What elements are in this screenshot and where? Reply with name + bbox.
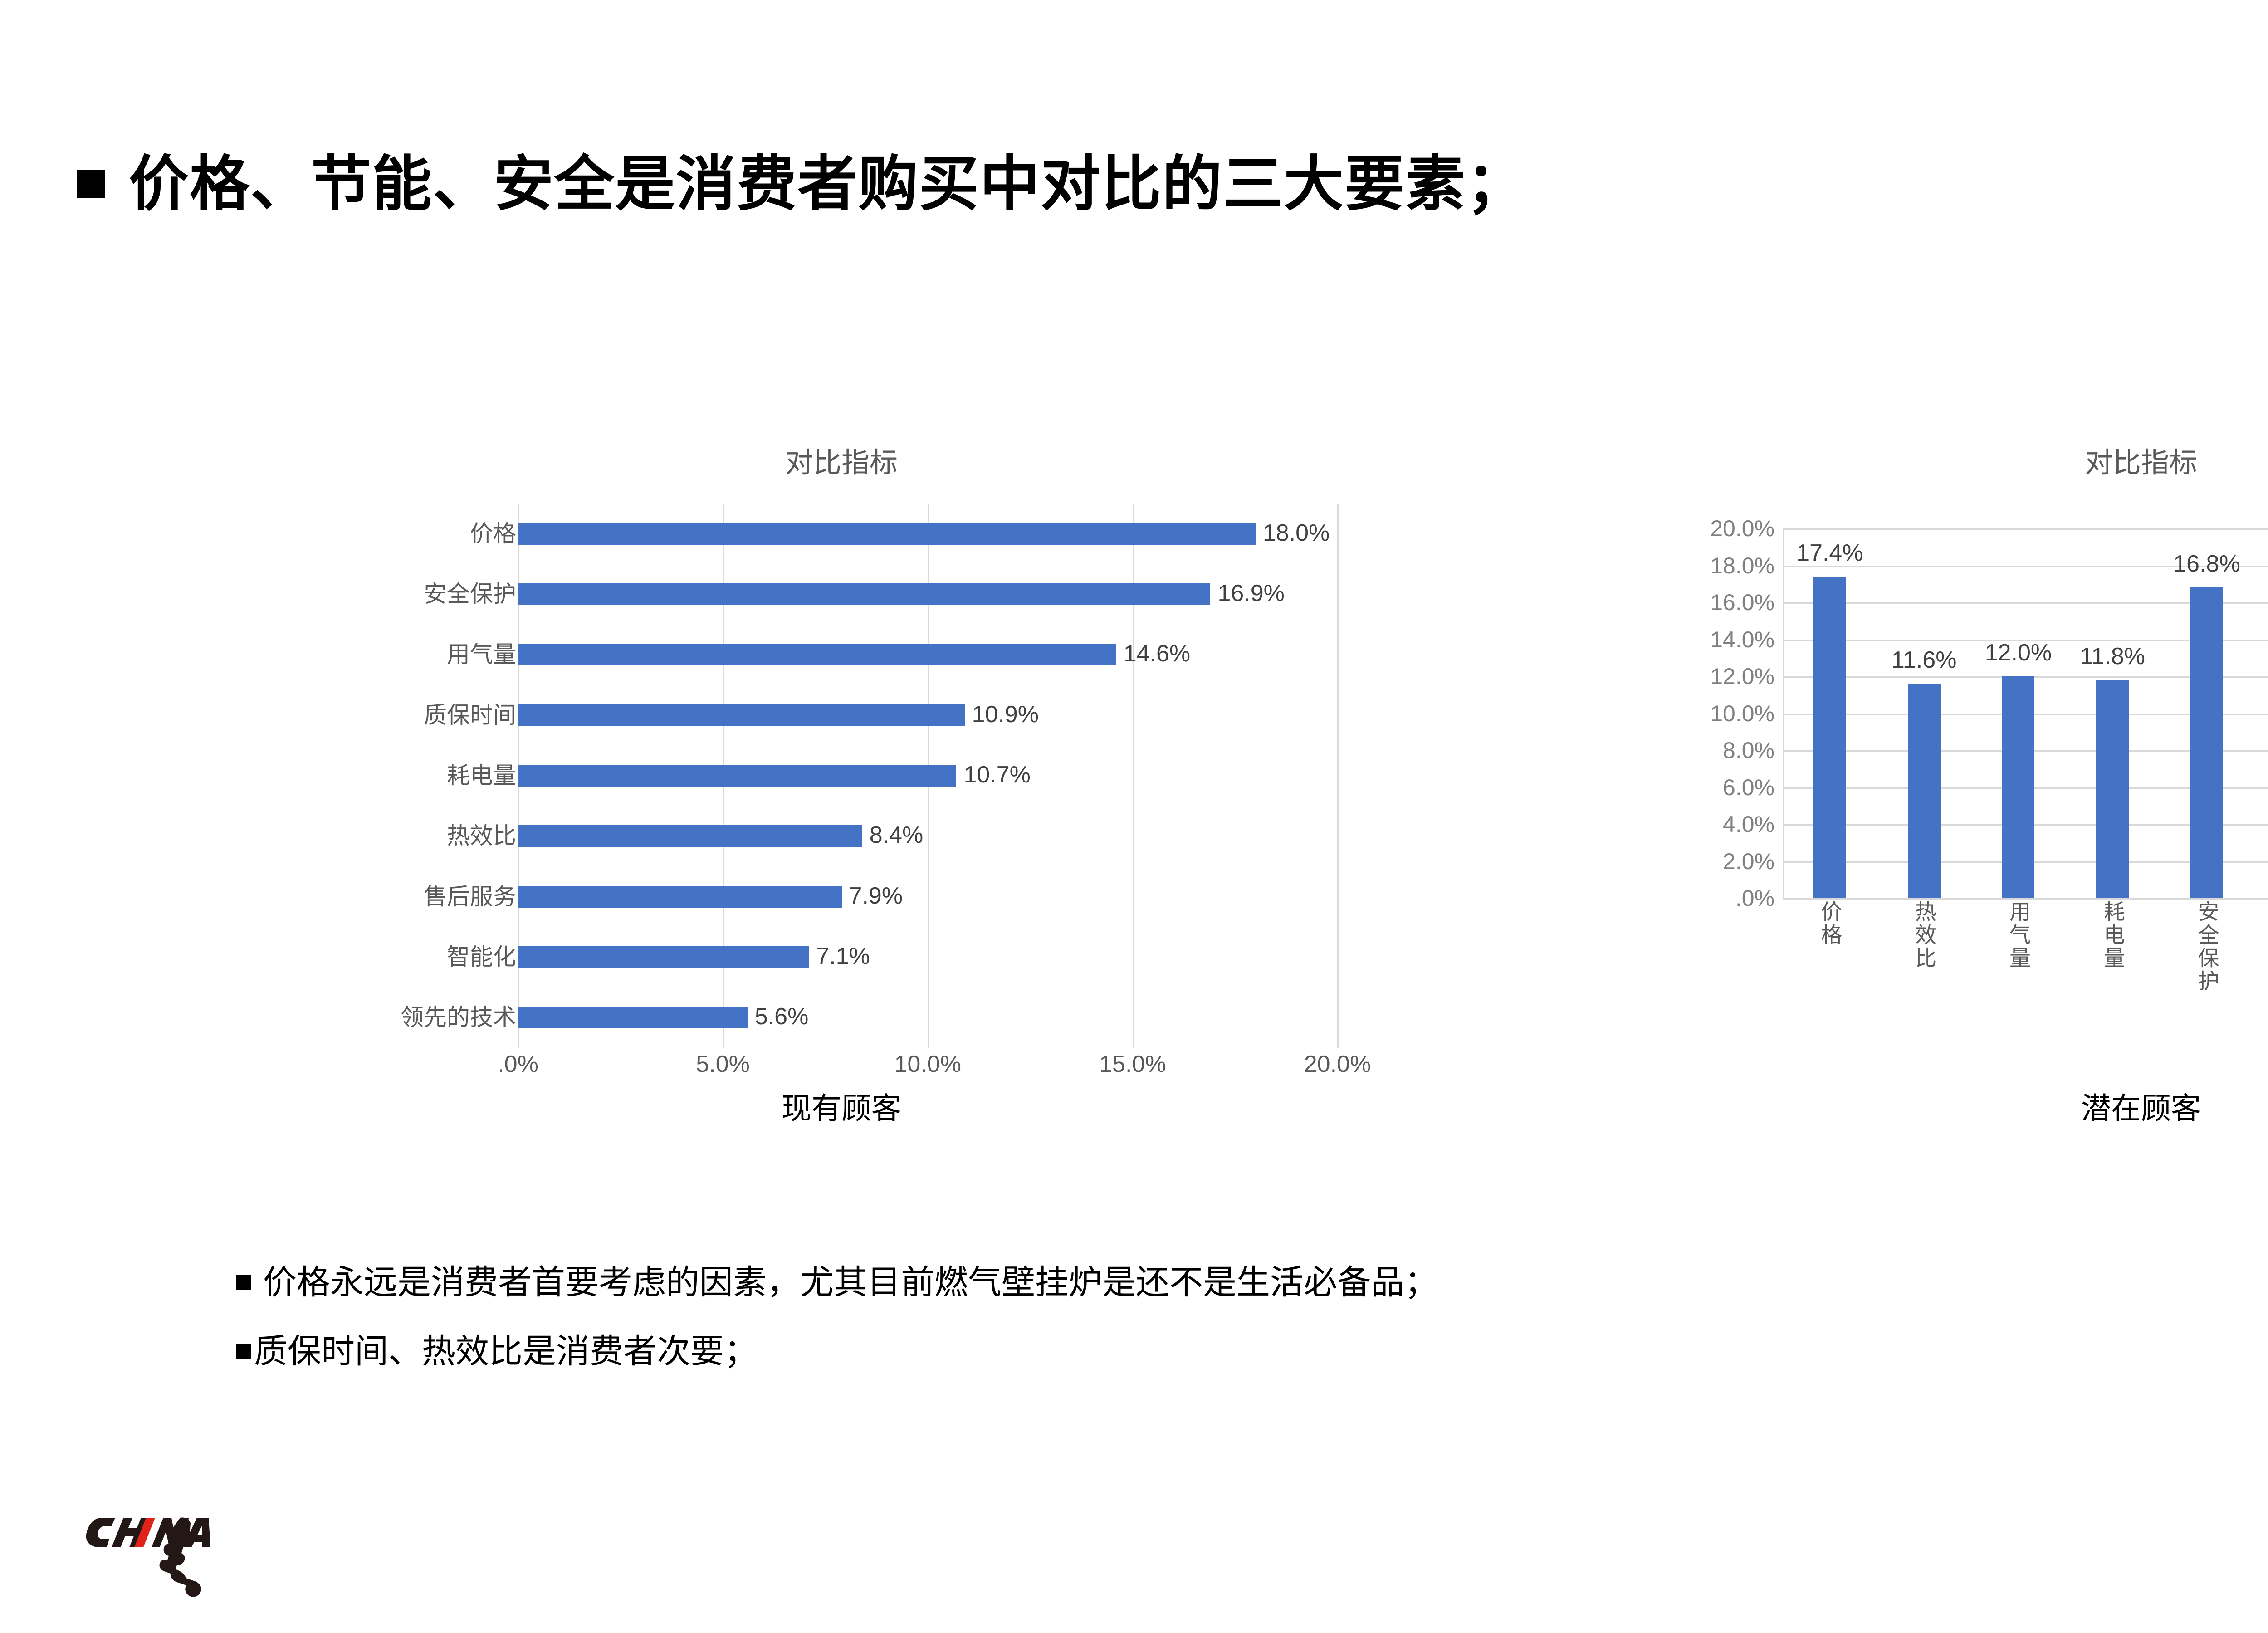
bar bbox=[1813, 577, 1846, 898]
title-bullet-icon bbox=[77, 170, 105, 198]
chart-caption-right: 潜在顾客 bbox=[1651, 1093, 2268, 1123]
y-axis-tick-label: 12.0% bbox=[1710, 665, 1774, 688]
y-axis-tick-label: 14.0% bbox=[1710, 628, 1774, 651]
square-bullet-icon bbox=[236, 1344, 251, 1359]
bar-category-label: 价格 bbox=[326, 522, 516, 545]
bar-value-label: 7.1% bbox=[816, 944, 870, 968]
bar-category-label: 领先的技术 bbox=[326, 1006, 516, 1029]
page-title-text: 价格、节能、安全是消费者购买中对比的三大要素； bbox=[129, 154, 1527, 214]
bar-value-label: 7.9% bbox=[849, 884, 903, 908]
x-axis-category-label: 耗电量 bbox=[2102, 900, 2123, 970]
bar-row: 用气量14.6% bbox=[313, 625, 1370, 685]
bar bbox=[518, 886, 842, 908]
horizontal-bar-plot-area: 价格18.0%安全保护16.9%用气量14.6%质保时间10.9%耗电量10.7… bbox=[313, 504, 1370, 1048]
bar-rows: 价格18.0%安全保护16.9%用气量14.6%质保时间10.9%耗电量10.7… bbox=[313, 504, 1370, 1048]
bar bbox=[2002, 676, 2034, 898]
bar-value-label: 16.9% bbox=[1217, 582, 1284, 605]
x-axis-tick-label: 5.0% bbox=[696, 1052, 750, 1076]
bar-row: 质保时间10.9% bbox=[313, 685, 1370, 745]
china-logo-icon bbox=[68, 1497, 249, 1610]
bar-value-label: 12.0% bbox=[1985, 641, 2052, 665]
y-axis-tick-label: 2.0% bbox=[1723, 850, 1774, 873]
bar bbox=[518, 765, 956, 787]
x-axis-tick-label: .0% bbox=[498, 1052, 538, 1076]
chart-caption-left: 现有顾客 bbox=[313, 1093, 1370, 1123]
list-item: 价格永远是消费者首要考虑的因素，尤其目前燃气壁挂炉是还不是生活必备品； bbox=[236, 1266, 2268, 1299]
bar-category-label: 质保时间 bbox=[326, 704, 516, 727]
bar-row: 安全保护16.9% bbox=[313, 564, 1370, 624]
x-axis-category-label: 安全保护 bbox=[2196, 900, 2218, 993]
bar-value-label: 5.6% bbox=[755, 1005, 809, 1028]
y-axis-ticks: 20.0%18.0%16.0%14.0%12.0%10.0%8.0%6.0%4.… bbox=[1651, 528, 1783, 898]
bar-category-label: 用气量 bbox=[326, 643, 516, 666]
bar bbox=[518, 825, 862, 847]
bar-category-label: 耗电量 bbox=[326, 764, 516, 787]
bar-category-label: 安全保护 bbox=[326, 582, 516, 606]
y-axis-tick-label: 6.0% bbox=[1723, 776, 1774, 799]
bar-row: 耗电量10.7% bbox=[313, 745, 1370, 806]
chart-title-right: 对比指标 bbox=[1651, 449, 2268, 477]
y-axis-tick-label: 16.0% bbox=[1710, 591, 1774, 614]
bar bbox=[518, 946, 809, 968]
bar-row: 智能化7.1% bbox=[313, 927, 1370, 987]
bar-value-label: 17.4% bbox=[1796, 541, 1863, 565]
list-item-label: 质保时间、热效比是消费者次要； bbox=[254, 1335, 758, 1368]
list-item: 质保时间、热效比是消费者次要； bbox=[236, 1335, 2268, 1368]
bar-row: 价格18.0% bbox=[313, 504, 1370, 564]
bar bbox=[518, 1007, 748, 1028]
bar-value-label: 18.0% bbox=[1263, 521, 1330, 545]
page-title: 价格、节能、安全是消费者购买中对比的三大要素； bbox=[77, 154, 1527, 214]
chart-existing-customers: 对比指标 价格18.0%安全保护16.9%用气量14.6%质保时间10.9%耗电… bbox=[313, 449, 1370, 1139]
bar bbox=[1908, 684, 1941, 898]
bullet-list: 价格永远是消费者首要考虑的因素，尤其目前燃气壁挂炉是还不是生活必备品； 质保时间… bbox=[236, 1266, 2268, 1403]
column-group: 8.1% bbox=[2254, 528, 2268, 898]
bar-row: 售后服务7.9% bbox=[313, 866, 1370, 927]
bar-value-label: 10.7% bbox=[963, 763, 1030, 787]
chart-title-left: 对比指标 bbox=[313, 449, 1370, 477]
square-bullet-icon bbox=[236, 1275, 251, 1290]
bar-value-label: 10.9% bbox=[972, 703, 1039, 726]
columns-area: 17.4%11.6%12.0%11.8%16.8%8.1%6.2%8.9%7.2… bbox=[1783, 528, 2268, 898]
y-axis-tick-label: .0% bbox=[1735, 887, 1774, 909]
y-axis-tick-label: 20.0% bbox=[1710, 517, 1774, 540]
column-group: 12.0% bbox=[1971, 528, 2066, 898]
bar-value-label: 11.6% bbox=[1892, 648, 1957, 672]
column-group: 16.8% bbox=[2160, 528, 2254, 898]
column-group: 11.6% bbox=[1877, 528, 1971, 898]
gridline bbox=[1783, 898, 2268, 900]
bar-value-label: 8.4% bbox=[870, 823, 924, 847]
bar-value-label: 11.8% bbox=[2080, 645, 2145, 668]
bar bbox=[518, 704, 965, 726]
column-group: 17.4% bbox=[1783, 528, 1877, 898]
bar bbox=[518, 583, 1210, 605]
bar bbox=[2190, 587, 2223, 898]
y-axis-tick-label: 18.0% bbox=[1710, 554, 1774, 577]
y-axis-tick-label: 4.0% bbox=[1723, 813, 1774, 836]
vertical-bar-plot-area: 20.0%18.0%16.0%14.0%12.0%10.0%8.0%6.0%4.… bbox=[1651, 528, 2268, 898]
bar-value-label: 14.6% bbox=[1124, 642, 1190, 665]
bar-value-label: 16.8% bbox=[2173, 552, 2240, 576]
china-logo bbox=[68, 1497, 249, 1610]
bar bbox=[518, 523, 1256, 545]
bar-category-label: 售后服务 bbox=[326, 885, 516, 908]
bar bbox=[518, 644, 1116, 665]
bar bbox=[2096, 680, 2129, 898]
bar-row: 热效比8.4% bbox=[313, 806, 1370, 866]
x-axis-categories: 价格热效比用气量耗电量安全保护智能化领先的技术质保时间售后服务 bbox=[1783, 900, 2268, 1037]
x-axis-category-label: 热效比 bbox=[1913, 900, 1935, 970]
y-axis-tick-label: 10.0% bbox=[1710, 702, 1774, 725]
x-axis-tick-label: 15.0% bbox=[1099, 1052, 1166, 1076]
x-axis-category-label: 用气量 bbox=[2008, 900, 2029, 970]
y-axis-tick-label: 8.0% bbox=[1723, 739, 1774, 762]
bar-category-label: 智能化 bbox=[326, 945, 516, 968]
list-item-label: 价格永远是消费者首要考虑的因素，尤其目前燃气壁挂炉是还不是生活必备品； bbox=[263, 1266, 1438, 1299]
x-axis-tick-label: 10.0% bbox=[894, 1052, 961, 1076]
bar-row: 领先的技术5.6% bbox=[313, 988, 1370, 1048]
chart-potential-customers: 对比指标 20.0%18.0%16.0%14.0%12.0%10.0%8.0%6… bbox=[1651, 449, 2268, 1139]
bar-category-label: 热效比 bbox=[326, 824, 516, 847]
x-axis-category-label: 价格 bbox=[1819, 900, 1840, 947]
x-axis-ticks: .0%5.0%10.0%15.0%20.0% bbox=[313, 1052, 1370, 1084]
column-group: 11.8% bbox=[2065, 528, 2160, 898]
x-axis-tick-label: 20.0% bbox=[1304, 1052, 1371, 1076]
